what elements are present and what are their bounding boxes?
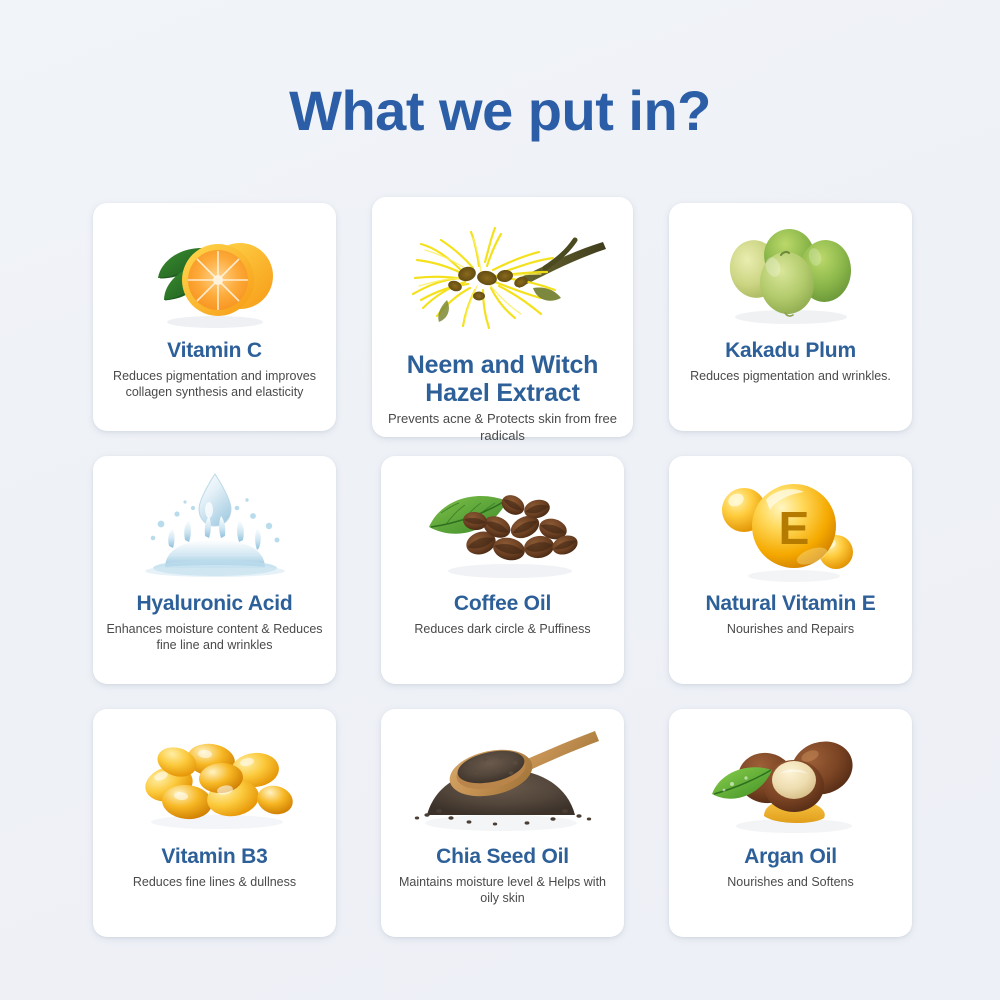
ingredient-title: Argan Oil: [744, 845, 837, 869]
orange-half-with-leaves-icon: [101, 215, 328, 333]
ingredient-description: Reduces pigmentation and wrinkles.: [686, 368, 895, 384]
ingredient-description: Nourishes and Repairs: [723, 621, 858, 637]
ingredient-card-hyaluronic-acid[interactable]: Hyaluronic Acid Enhances moisture conten…: [93, 456, 336, 684]
ingredient-title: Natural Vitamin E: [705, 592, 875, 616]
vitamin-e-gold-capsule-icon: E: [677, 468, 904, 586]
ingredient-title: Vitamin C: [167, 339, 262, 363]
ingredient-card-argan-oil[interactable]: Argan Oil Nourishes and Softens: [669, 709, 912, 937]
ingredient-description: Nourishes and Softens: [723, 874, 857, 890]
ingredient-title: Coffee Oil: [454, 592, 551, 616]
ingredient-card-kakadu-plum[interactable]: Kakadu Plum Reduces pigmentation and wri…: [669, 203, 912, 431]
water-droplet-splash-icon: [101, 468, 328, 586]
ingredient-card-vitamin-b3[interactable]: Vitamin B3 Reduces fine lines & dullness: [93, 709, 336, 937]
ingredient-title: Neem and Witch Hazel Extract: [380, 351, 625, 407]
ingredient-card-grid: Vitamin C Reduces pigmentation and impro…: [93, 203, 913, 937]
ingredient-description: Reduces dark circle & Puffiness: [410, 621, 594, 637]
ingredient-title: Kakadu Plum: [725, 339, 856, 363]
ingredient-card-vitamin-c[interactable]: Vitamin C Reduces pigmentation and impro…: [93, 203, 336, 431]
ingredient-description: Enhances moisture content & Reduces fine…: [101, 621, 328, 653]
ingredient-description: Maintains moisture level & Helps with oi…: [389, 874, 616, 906]
svg-text:E: E: [779, 502, 810, 554]
coffee-beans-with-leaf-icon: [389, 468, 616, 586]
chia-seeds-wooden-spoon-icon: [389, 721, 616, 839]
ingredient-card-natural-vitamin-e[interactable]: E Natural Vitamin E Nourishes and Repair…: [669, 456, 912, 684]
gold-softgel-capsules-icon: [101, 721, 328, 839]
ingredient-title: Chia Seed Oil: [436, 845, 569, 869]
ingredients-infographic: What we put in?: [0, 0, 1000, 1000]
green-plums-icon: [677, 215, 904, 333]
ingredient-title: Vitamin B3: [161, 845, 267, 869]
page-title: What we put in?: [0, 82, 1000, 141]
ingredient-card-neem-and-witch-hazel-extract[interactable]: Neem and Witch Hazel Extract Prevents ac…: [372, 197, 633, 437]
ingredient-title: Hyaluronic Acid: [136, 592, 292, 616]
argan-nuts-with-leaf-icon: [677, 721, 904, 839]
witch-hazel-yellow-flower-icon: [380, 213, 625, 349]
ingredient-card-coffee-oil[interactable]: Coffee Oil Reduces dark circle & Puffine…: [381, 456, 624, 684]
ingredient-description: Prevents acne & Protects skin from free …: [380, 411, 625, 444]
ingredient-card-chia-seed-oil[interactable]: Chia Seed Oil Maintains moisture level &…: [381, 709, 624, 937]
ingredient-description: Reduces fine lines & dullness: [129, 874, 300, 890]
ingredient-description: Reduces pigmentation and improves collag…: [101, 368, 328, 400]
